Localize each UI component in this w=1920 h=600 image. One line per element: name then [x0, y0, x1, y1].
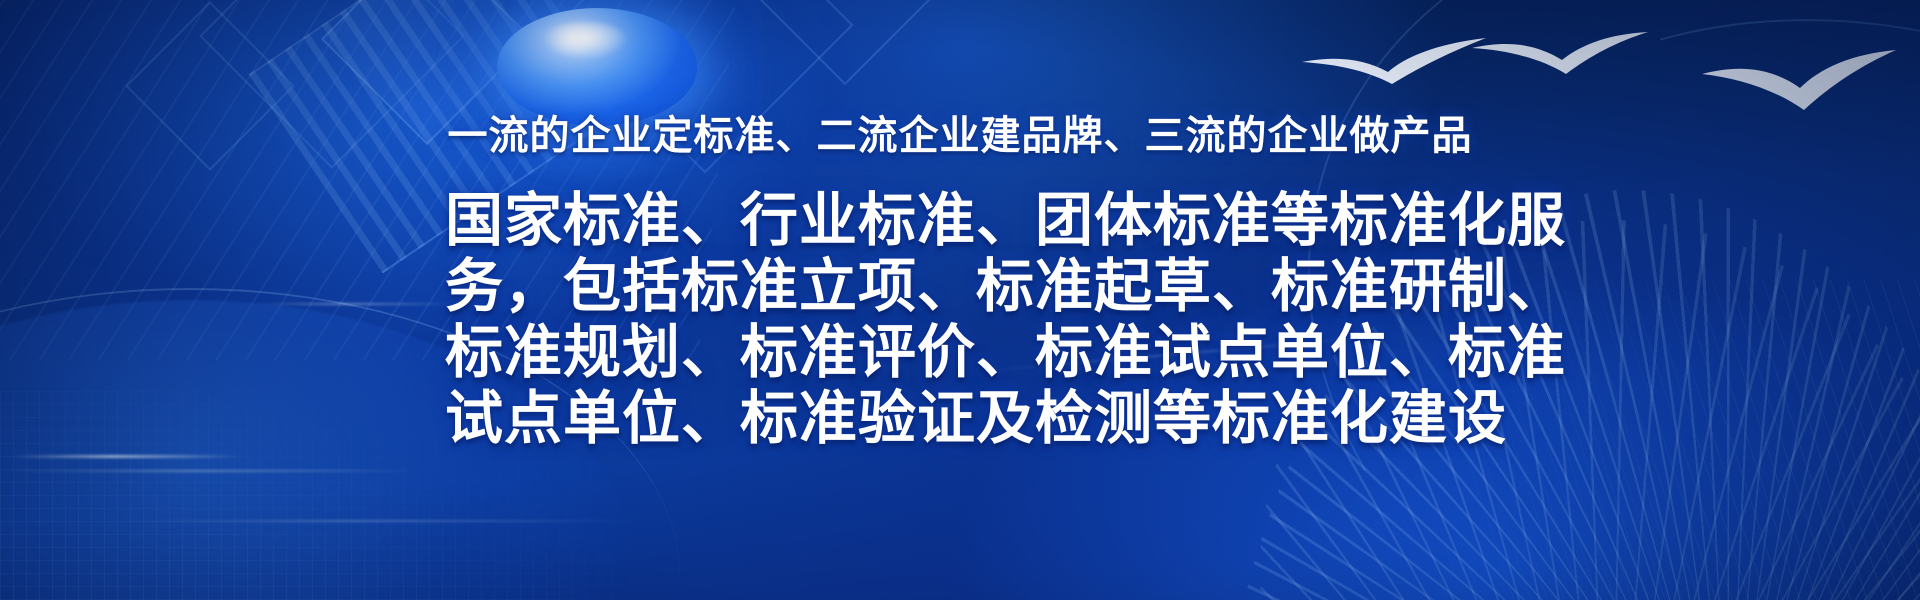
- banner-content: 一流的企业定标准、二流企业建品牌、三流的企业做产品 国家标准、行业标准、团体标准…: [0, 0, 1920, 600]
- body-line: 试点单位、标准验证及检测等标准化建设: [445, 386, 1475, 452]
- banner-body-text: 国家标准、行业标准、团体标准等标准化服 务，包括标准立项、标准起草、标准研制、 …: [445, 188, 1475, 452]
- body-line: 标准规划、标准评价、标准试点单位、标准: [445, 320, 1475, 386]
- body-line: 国家标准、行业标准、团体标准等标准化服: [445, 188, 1475, 254]
- hero-banner: 一流的企业定标准、二流企业建品牌、三流的企业做产品 国家标准、行业标准、团体标准…: [0, 0, 1920, 600]
- banner-headline: 一流的企业定标准、二流企业建品牌、三流的企业做产品: [448, 112, 1473, 160]
- body-line: 务，包括标准立项、标准起草、标准研制、: [445, 254, 1475, 320]
